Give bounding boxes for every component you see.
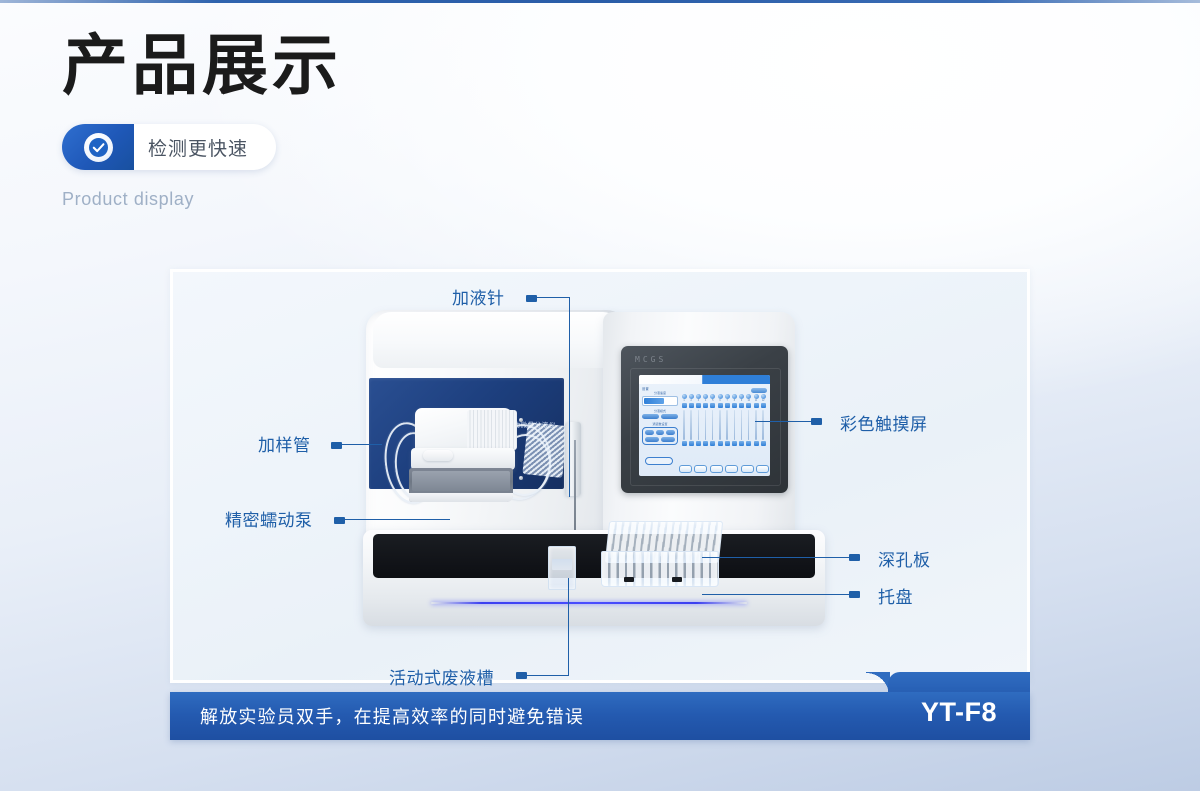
screen-channel-number: 12	[760, 399, 766, 402]
tray-led-strip	[431, 602, 747, 604]
screen-action-buttons	[679, 465, 769, 473]
screen-channel-number: 11	[753, 399, 759, 402]
screen-channel-toggle[interactable]	[682, 403, 687, 408]
model-number: YT-F8	[888, 672, 1030, 740]
screen-speed-slider[interactable]	[642, 396, 678, 406]
pump-head	[415, 408, 513, 452]
screen-channel-toggle[interactable]	[746, 403, 751, 408]
screen-channel-toggle[interactable]	[746, 441, 751, 446]
callout-label-tray: 托盘	[878, 583, 913, 608]
screen-channel-toggle[interactable]	[696, 441, 701, 446]
screen-channel-toggle[interactable]	[725, 403, 730, 408]
screen-channel-toggle[interactable]	[739, 441, 744, 446]
screen-channel-track[interactable]	[748, 410, 749, 440]
screen-control-label: 通道数设置	[642, 422, 678, 426]
product-photo: 全自动微量分液仪	[173, 272, 1027, 680]
screen-channel-number: 3	[695, 399, 701, 402]
screen-channel-toggle[interactable]	[703, 441, 708, 446]
screen-channel-column[interactable]: 6	[717, 394, 723, 456]
callout-label-peristaltic: 精密蠕动泵	[225, 506, 313, 531]
product-display-page: 产品展示 检测更快速 Product display 全自动微	[0, 0, 1200, 791]
screen-channel-track[interactable]	[741, 410, 742, 440]
badge-label: 检测更快速	[134, 124, 276, 170]
screen-channel-column[interactable]: 9	[739, 394, 745, 456]
check-circle-icon	[84, 133, 113, 162]
screen-action-button[interactable]	[725, 465, 738, 473]
screen-channel-column[interactable]: 8	[731, 394, 737, 456]
screen-channel-toggle[interactable]	[710, 441, 715, 446]
screen-channel-toggle[interactable]	[703, 403, 708, 408]
callout-label-touchscreen: 彩色触摸屏	[840, 410, 928, 435]
tagline-text: 解放实验员双手，在提高效率的同时避免错误	[200, 692, 584, 740]
screen-channel-toggle[interactable]	[718, 441, 723, 446]
tubing-bundle	[522, 422, 567, 478]
screen-channel-toggle[interactable]	[696, 403, 701, 408]
screen-channel-number: 8	[731, 399, 737, 402]
page-header: 产品展示 检测更快速 Product display	[62, 26, 342, 210]
deep-well-plate	[601, 521, 721, 589]
screen-channel-track[interactable]	[762, 410, 763, 440]
screen-mode-button[interactable]	[642, 414, 659, 419]
badge-icon-area	[62, 124, 134, 170]
screen-channel-grid: 123456789101112	[681, 394, 767, 456]
screen-action-button[interactable]	[756, 465, 769, 473]
screen-channel-toggle[interactable]	[732, 403, 737, 408]
pump-lever	[423, 450, 453, 461]
screen-channel-track[interactable]	[726, 410, 727, 440]
screen-channel-group	[642, 427, 678, 445]
screen-action-button[interactable]	[679, 465, 692, 473]
screen-channel-toggle[interactable]	[732, 441, 737, 446]
screen-channel-track[interactable]	[734, 410, 735, 440]
screen-channel-column[interactable]: 12	[760, 394, 766, 456]
pump-fins	[467, 410, 517, 450]
screen-channel-number: 2	[688, 399, 694, 402]
screen-channel-button[interactable]	[661, 437, 675, 442]
screen-channel-track[interactable]	[690, 410, 691, 440]
screen-channel-column[interactable]: 2	[688, 394, 694, 456]
callout-line-peristaltic	[345, 519, 450, 520]
screen-channel-toggle[interactable]	[754, 403, 759, 408]
screen-mode-buttons[interactable]	[642, 414, 678, 419]
callout-line-sample-tube	[342, 444, 382, 445]
callout-line-waste	[527, 675, 569, 676]
callout-marker-deepwell	[849, 554, 860, 561]
page-subtitle: Product display	[62, 189, 342, 210]
callout-marker-peristaltic	[334, 517, 345, 524]
screen-channel-toggle[interactable]	[710, 403, 715, 408]
screen-channel-button[interactable]	[656, 430, 665, 435]
screen-action-button[interactable]	[694, 465, 707, 473]
screen-control-label: 分液速度	[642, 391, 678, 395]
callout-line-waste	[568, 578, 569, 676]
touchscreen-display[interactable]: 设置 分液速度 分液模式 通道数设置	[639, 375, 770, 476]
screen-channel-number: 9	[739, 399, 745, 402]
screen-channel-toggle[interactable]	[689, 441, 694, 446]
screen-channel-number: 4	[703, 399, 709, 402]
callout-marker-sample-tube	[331, 442, 342, 449]
screen-channel-track[interactable]	[705, 410, 706, 440]
touchscreen-bezel: MCGS 设置 分液速度 分液模式 通道数设置	[621, 346, 788, 493]
screen-reset-button[interactable]	[751, 388, 767, 393]
screen-action-button[interactable]	[741, 465, 754, 473]
callout-line-deepwell	[702, 557, 849, 558]
pump-base-foot	[409, 493, 513, 502]
screen-titlebar	[639, 375, 770, 384]
screen-control-label: 分液模式	[642, 409, 678, 413]
screen-status-field	[645, 457, 673, 465]
screen-channel-toggle[interactable]	[718, 403, 723, 408]
screen-mode-button[interactable]	[661, 414, 678, 419]
tray-surface	[373, 534, 815, 578]
screen-channel-toggle[interactable]	[739, 403, 744, 408]
screen-brand-label: MCGS	[635, 355, 666, 364]
product-photo-panel: 全自动微量分液仪	[170, 269, 1030, 683]
screen-channel-toggle[interactable]	[754, 441, 759, 446]
top-accent-strip	[0, 0, 1200, 3]
screen-channel-number: 7	[724, 399, 730, 402]
screen-channel-column[interactable]: 7	[724, 394, 730, 456]
callout-marker-touchscreen	[811, 418, 822, 425]
screen-channel-column[interactable]: 3	[695, 394, 701, 456]
plate-notch	[672, 577, 682, 582]
callout-marker-tray	[849, 591, 860, 598]
screen-channel-toggle[interactable]	[689, 403, 694, 408]
callout-label-needle: 加液针	[452, 284, 505, 309]
screen-channel-track[interactable]	[755, 410, 756, 440]
machine-top-highlight	[373, 312, 621, 368]
screen-channel-track[interactable]	[683, 410, 684, 440]
callout-label-sample-tube: 加样管	[258, 431, 311, 456]
plate-notch	[624, 577, 634, 582]
callout-marker-waste	[516, 672, 527, 679]
screen-channel-number: 5	[710, 399, 716, 402]
callout-line-tray	[702, 594, 849, 595]
screen-channel-button[interactable]	[645, 437, 659, 442]
peristaltic-pump	[409, 408, 520, 504]
callout-line-needle	[569, 297, 570, 497]
screen-channel-toggle[interactable]	[725, 441, 730, 446]
callout-marker-needle	[526, 295, 537, 302]
callout-label-deepwell: 深孔板	[878, 546, 931, 571]
needle-rail	[565, 422, 581, 496]
screen-channel-column[interactable]: 10	[746, 394, 752, 456]
screen-channel-track[interactable]	[719, 410, 720, 440]
screen-channel-toggle[interactable]	[761, 403, 766, 408]
screen-action-button[interactable]	[710, 465, 723, 473]
screen-channel-number: 1	[681, 399, 687, 402]
feature-badge: 检测更快速	[62, 124, 276, 170]
screen-channel-number: 10	[746, 399, 752, 402]
screen-channel-column[interactable]: 5	[710, 394, 716, 456]
screen-channel-track[interactable]	[698, 410, 699, 440]
pump-base-face	[412, 471, 510, 491]
pump-base	[409, 468, 513, 502]
screen-channel-column[interactable]: 1	[681, 394, 687, 456]
screen-channel-button[interactable]	[645, 430, 654, 435]
screen-channel-toggle[interactable]	[682, 441, 687, 446]
screen-channel-number: 6	[717, 399, 723, 402]
page-title: 产品展示	[62, 26, 342, 104]
screen-left-controls: 分液速度 分液模式 通道数设置	[642, 391, 678, 469]
screen-channel-track[interactable]	[712, 410, 713, 440]
callout-line-touchscreen	[755, 421, 811, 422]
screen-channel-button[interactable]	[666, 430, 675, 435]
screen-channel-column[interactable]: 4	[703, 394, 709, 456]
callout-label-waste: 活动式废液槽	[389, 664, 494, 689]
callout-line-needle	[537, 297, 570, 298]
screen-channel-toggle[interactable]	[761, 441, 766, 446]
screen-channel-column[interactable]: 11	[753, 394, 759, 456]
waste-trough	[548, 546, 576, 590]
